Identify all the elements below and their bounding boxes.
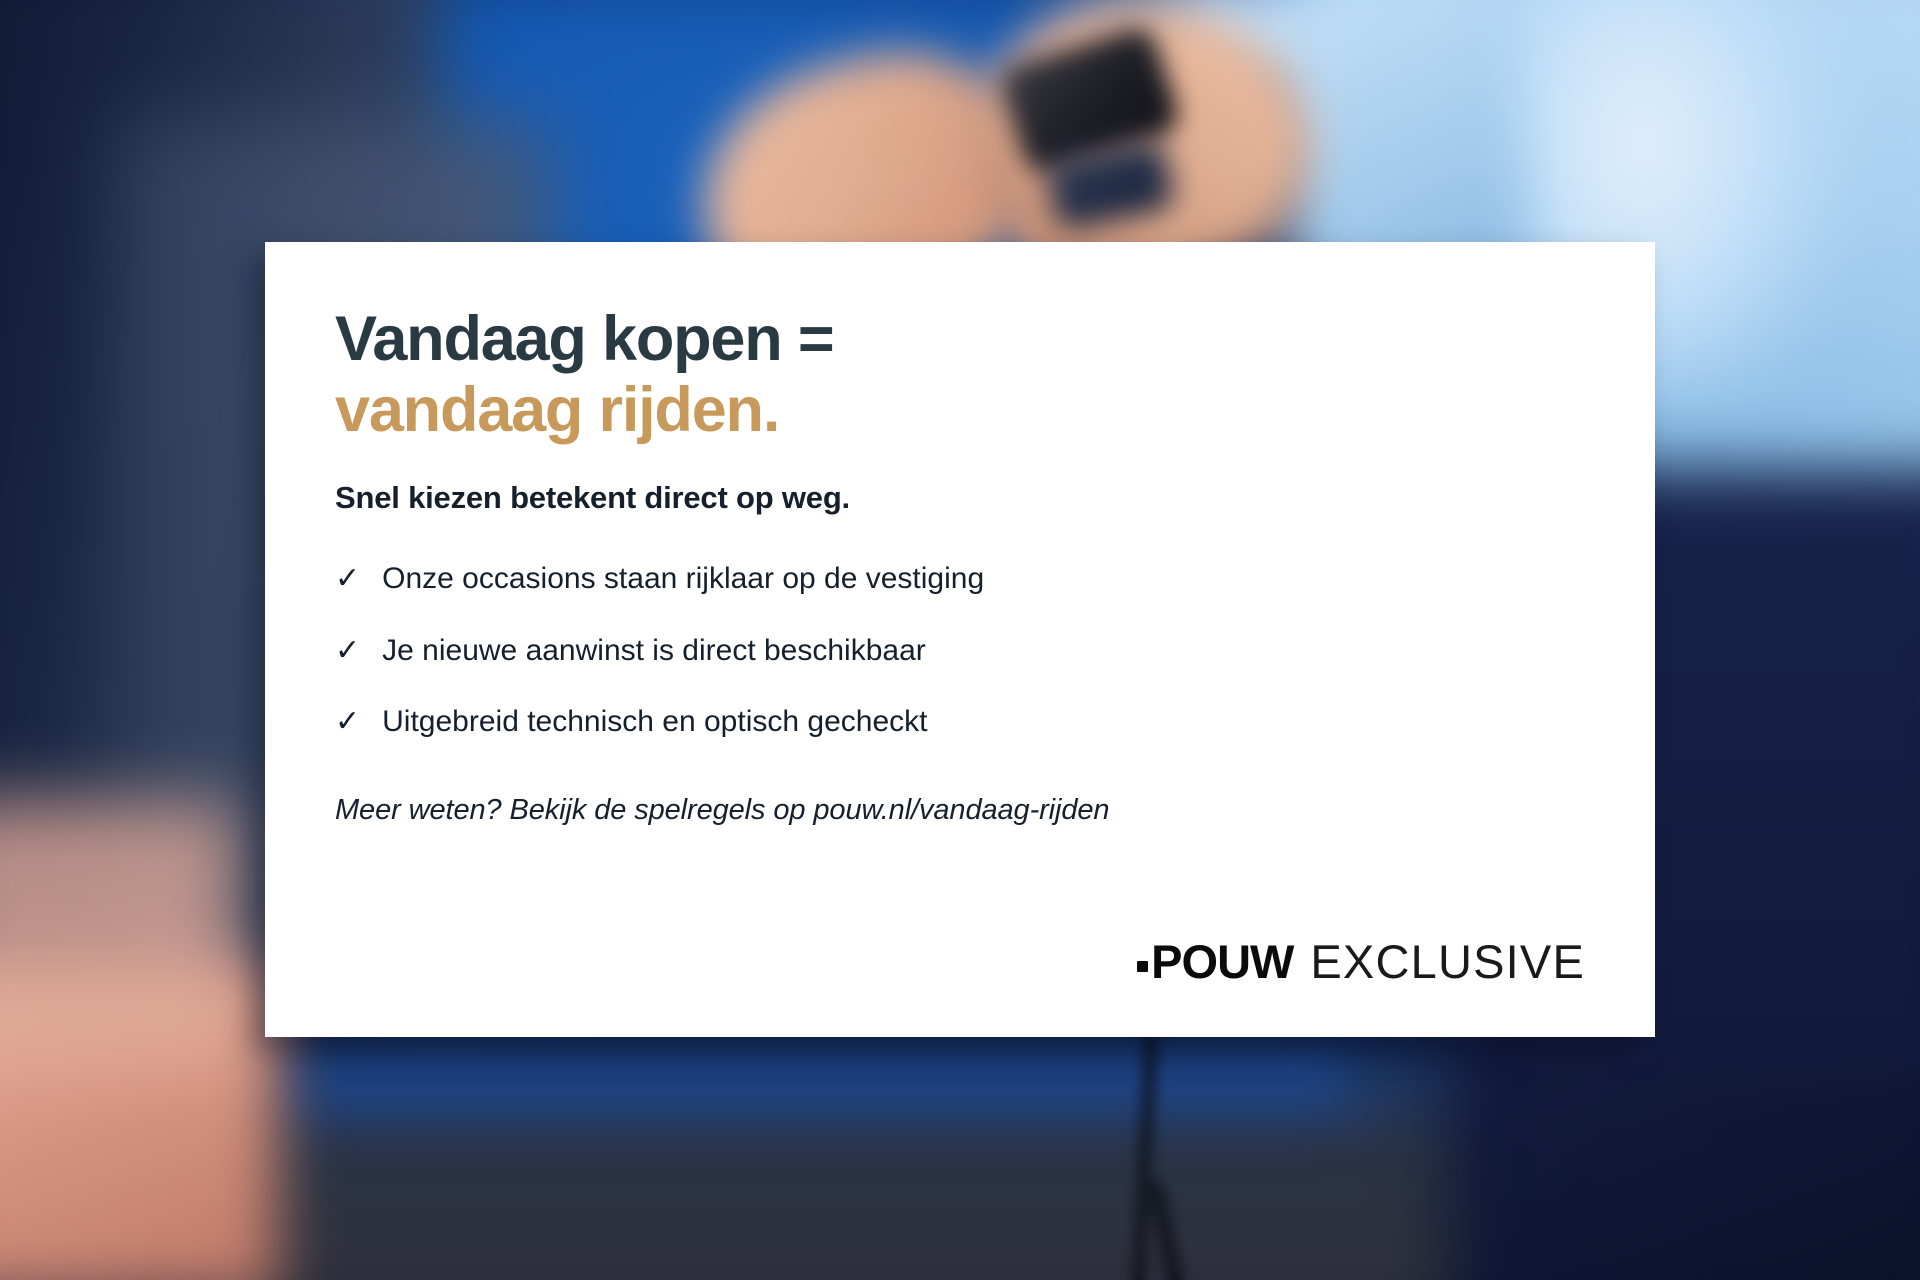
subheadline: Snel kiezen betekent direct op weg. — [335, 480, 1585, 516]
headline-line-1: Vandaag kopen = — [335, 304, 833, 374]
page-title: Vandaag kopen = vandaag rijden. — [335, 304, 1585, 446]
list-item: ✓ Onze occasions staan rijklaar op de ve… — [335, 560, 1585, 598]
rules-note: Meer weten? Bekijk de spelregels op pouw… — [335, 794, 1585, 827]
logo-secondary-text: EXCLUSIVE — [1310, 934, 1585, 989]
check-icon: ✓ — [335, 636, 360, 666]
promo-card: Vandaag kopen = vandaag rijden. Snel kie… — [265, 242, 1655, 1037]
photo-car-reflection — [300, 1060, 1350, 1130]
photo-car-body — [250, 1020, 1450, 1280]
pouw-exclusive-logo: POUW EXCLUSIVE — [1137, 934, 1585, 989]
promo-banner: Vandaag kopen = vandaag rijden. Snel kie… — [0, 0, 1920, 1280]
headline-line-2: vandaag rijden. — [335, 375, 1585, 446]
benefits-list: ✓ Onze occasions staan rijklaar op de ve… — [335, 560, 1585, 741]
benefit-label: Je nieuwe aanwinst is direct beschikbaar — [382, 632, 926, 670]
photo-bottom-right-navy — [1540, 1080, 1920, 1280]
list-item: ✓ Uitgebreid technisch en optisch gechec… — [335, 703, 1585, 741]
check-icon: ✓ — [335, 707, 360, 737]
check-icon: ✓ — [335, 564, 360, 594]
brand-footer: POUW EXCLUSIVE — [335, 934, 1585, 989]
photo-peach-shape-upper — [0, 800, 240, 1060]
benefit-label: Onze occasions staan rijklaar op de vest… — [382, 560, 984, 598]
benefit-label: Uitgebreid technisch en optisch gecheckt — [382, 703, 927, 741]
logo-primary-text: POUW — [1151, 934, 1293, 989]
list-item: ✓ Je nieuwe aanwinst is direct beschikba… — [335, 632, 1585, 670]
logo-dot-icon — [1137, 961, 1148, 972]
